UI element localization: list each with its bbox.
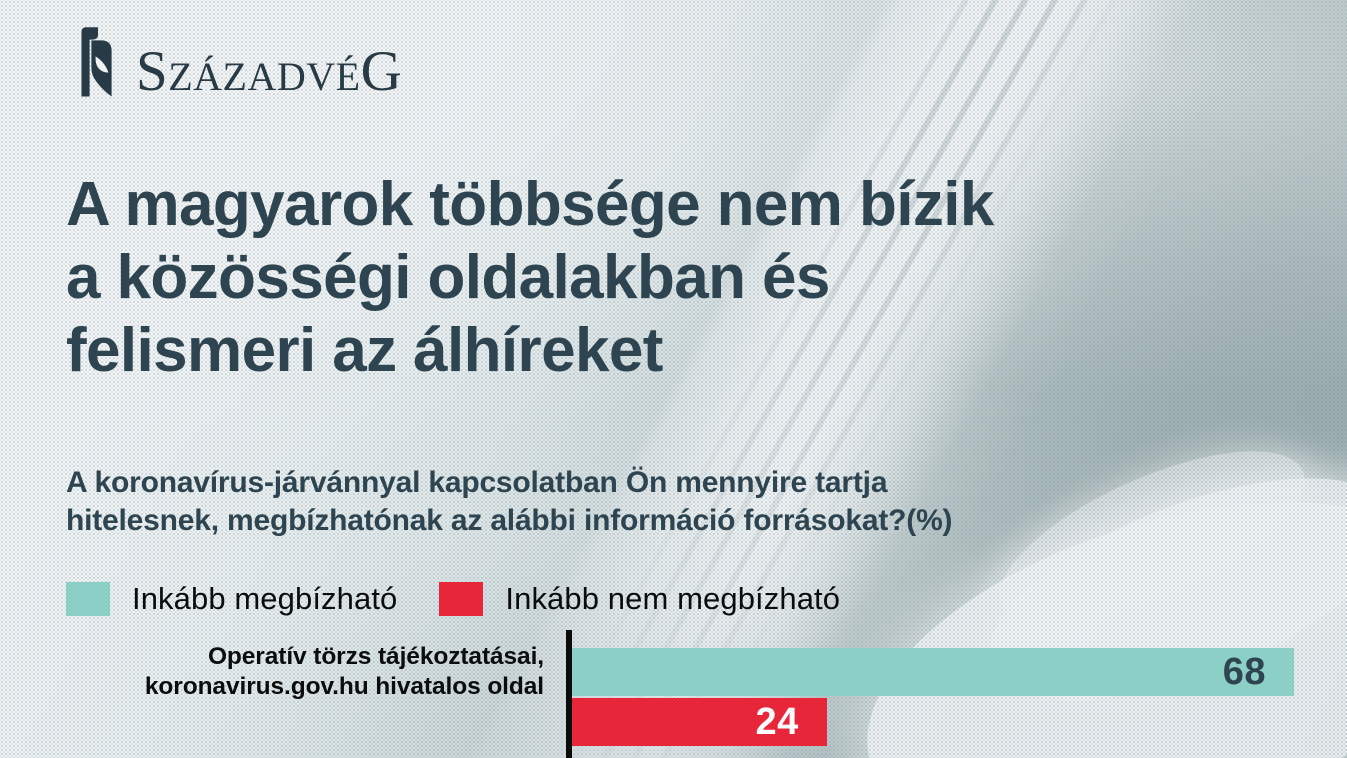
bar-trustworthy: 68 xyxy=(572,648,1294,696)
legend-item-trustworthy: Inkább megbízható xyxy=(66,581,397,617)
logo-word-small-caps: ZÁZADVÉ xyxy=(168,54,360,99)
survey-question-line-2: hitelesnek, megbízhatónak az alábbi info… xyxy=(66,502,1196,540)
page-title-line-3: felismeri az álhíreket xyxy=(66,314,1066,387)
poster-content: SZÁZADVÉG A magyarok többsége nem bízik … xyxy=(0,0,1347,758)
page-title-line-2: a közösségi oldalakban és xyxy=(66,241,1066,314)
legend-label-not-trustworthy: Inkább nem megbízható xyxy=(505,581,840,617)
chart-category-label-line-2: koronavirus.gov.hu hivatalos oldal xyxy=(4,672,544,702)
legend-label-trustworthy: Inkább megbízható xyxy=(132,581,397,617)
page-title: A magyarok többsége nem bízik a közösség… xyxy=(66,168,1066,387)
chart-row: Operatív törzs tájékoztatásai, koronavir… xyxy=(0,640,1347,758)
brand-logo: SZÁZADVÉG xyxy=(68,26,402,98)
brand-logo-wordmark: SZÁZADVÉG xyxy=(136,46,402,98)
legend-swatch-trustworthy xyxy=(66,582,110,616)
bar-value-not-trustworthy: 24 xyxy=(756,703,799,741)
legend-swatch-not-trustworthy xyxy=(439,582,483,616)
chart-category-label: Operatív törzs tájékoztatásai, koronavir… xyxy=(4,642,544,702)
page-title-line-1: A magyarok többsége nem bízik xyxy=(66,168,1066,241)
logo-word-cap-s: S xyxy=(136,40,168,103)
chart-legend: Inkább megbízható Inkább nem megbízható xyxy=(66,578,840,620)
survey-question-line-1: A koronavírus-járvánnyal kapcsolatban Ön… xyxy=(66,464,1196,502)
infographic-poster: SZÁZADVÉG A magyarok többsége nem bízik … xyxy=(0,0,1347,758)
chart-bars: 68 24 xyxy=(572,640,1347,758)
logo-word-cap-g: G xyxy=(361,40,403,103)
bar-chart: Operatív törzs tájékoztatásai, koronavir… xyxy=(0,640,1347,758)
survey-question: A koronavírus-járvánnyal kapcsolatban Ön… xyxy=(66,464,1196,540)
chart-category-label-line-1: Operatív törzs tájékoztatásai, xyxy=(4,642,544,672)
legend-item-not-trustworthy: Inkább nem megbízható xyxy=(439,581,840,617)
bar-value-trustworthy: 68 xyxy=(1223,653,1266,691)
bar-not-trustworthy: 24 xyxy=(572,698,827,746)
szazadveg-logo-mark xyxy=(68,26,126,98)
